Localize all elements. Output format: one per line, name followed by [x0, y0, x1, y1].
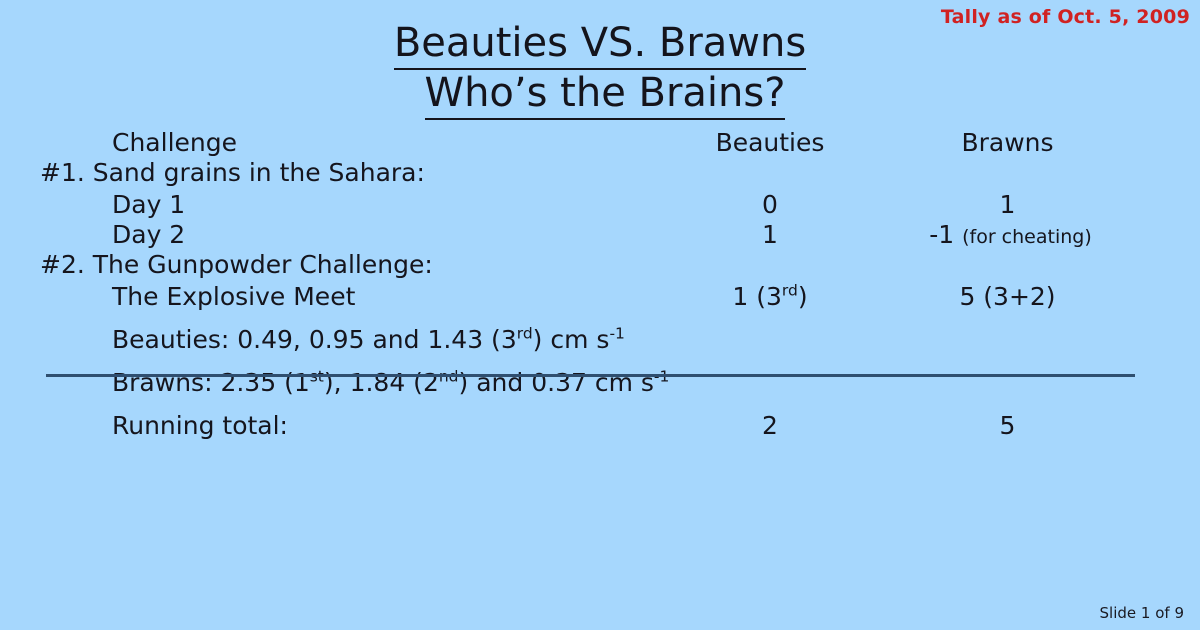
title-line-2: Who’s the Brains?: [5, 70, 1200, 120]
brawns-speed-1: 2.35: [220, 368, 276, 397]
title-line-1-text: Beauties VS. Brawns: [394, 20, 806, 70]
beauties-speed-3-rank: 3: [501, 325, 517, 354]
column-header-beauties: Beauties: [670, 128, 870, 158]
beauties-speed-3-rank-suffix: rd: [517, 325, 533, 343]
slide-title: Beauties VS. Brawns Who’s the Brains?: [0, 20, 1200, 120]
beauties-results-line: Beauties: 0.49, 0.95 and 1.43 (3rd) cm s…: [112, 325, 625, 355]
beauties-results-row: Beauties: 0.49, 0.95 and 1.43 (3rd) cm s…: [0, 325, 1200, 357]
explosive-meet-beauties-rank-suffix: rd: [782, 282, 798, 300]
day-2-brawns-value: -1: [929, 220, 954, 249]
explosive-meet-beauties-rank: 3: [766, 282, 782, 311]
slide-canvas: Tally as of Oct. 5, 2009 Beauties VS. Br…: [0, 0, 1200, 630]
day-1-label: Day 1: [112, 190, 185, 220]
brawns-speed-1-rank: 1: [294, 368, 310, 397]
beauties-unit-exponent: -1: [609, 325, 624, 343]
explosive-meet-brawns-score: 5 (3+2): [900, 282, 1115, 312]
beauties-speed-2: 0.95: [309, 325, 365, 354]
running-total-row: Running total: 2 5: [0, 411, 1200, 443]
brawns-results-joiner: and: [476, 368, 523, 397]
day-2-brawns-note: (for cheating): [962, 226, 1092, 248]
running-total-brawns: 5: [900, 411, 1115, 441]
spacer: [0, 314, 1200, 325]
explosive-meet-beauties-value: 1: [732, 282, 748, 311]
scoreboard-table: Challenge Beauties Brawns #1. Sand grain…: [0, 128, 1200, 443]
brawns-results-row: Brawns: 2.35 (1st), 1.84 (2nd) and 0.37 …: [0, 368, 1200, 400]
beauties-results-team: Beauties:: [112, 325, 229, 354]
day-2-brawns-score: -1 (for cheating): [903, 220, 1118, 252]
beauties-results-joiner: and: [372, 325, 419, 354]
table-header-row: Challenge Beauties Brawns: [0, 128, 1200, 158]
beauties-speed-1: 0.49: [237, 325, 293, 354]
column-header-brawns: Brawns: [900, 128, 1115, 158]
table-row: #1. Sand grains in the Sahara:: [0, 158, 1200, 190]
day-2-label: Day 2: [112, 220, 185, 250]
brawns-speed-2-rank: 2: [423, 368, 439, 397]
day-1-brawns-score: 1: [900, 190, 1115, 220]
spacer: [0, 400, 1200, 411]
table-row: Day 2 1 -1 (for cheating): [0, 220, 1200, 250]
day-2-beauties-score: 1: [670, 220, 870, 250]
total-divider-rule: [46, 374, 1135, 377]
challenge-1-label: #1. Sand grains in the Sahara:: [40, 158, 425, 188]
brawns-results-sep: ,: [334, 368, 342, 397]
running-total-beauties: 2: [670, 411, 870, 441]
challenge-2-label: #2. The Gunpowder Challenge:: [40, 250, 433, 280]
brawns-unit-base: cm s: [595, 368, 654, 397]
brawns-results-line: Brawns: 2.35 (1st), 1.84 (2nd) and 0.37 …: [112, 368, 669, 398]
table-row: Day 1 0 1: [0, 190, 1200, 220]
title-line-2-text: Who’s the Brains?: [425, 70, 786, 120]
brawns-speed-2: 1.84: [350, 368, 406, 397]
slide-number-indicator: Slide 1 of 9: [1100, 604, 1184, 622]
explosive-meet-beauties-score: 1 (3rd): [670, 282, 870, 312]
brawns-results-team: Brawns:: [112, 368, 213, 397]
explosive-meet-label: The Explosive Meet: [112, 282, 355, 312]
day-1-beauties-score: 0: [670, 190, 870, 220]
beauties-unit-base: cm s: [550, 325, 609, 354]
table-row: #2. The Gunpowder Challenge:: [0, 250, 1200, 282]
running-total-label: Running total:: [112, 411, 288, 441]
beauties-speed-3: 1.43: [427, 325, 483, 354]
column-header-challenge: Challenge: [112, 128, 237, 158]
table-row: The Explosive Meet 1 (3rd) 5 (3+2): [0, 282, 1200, 314]
beauties-results-sep: ,: [293, 325, 301, 354]
title-line-1: Beauties VS. Brawns: [0, 20, 1200, 70]
spacer: [0, 357, 1200, 368]
brawns-speed-3: 0.37: [531, 368, 587, 397]
